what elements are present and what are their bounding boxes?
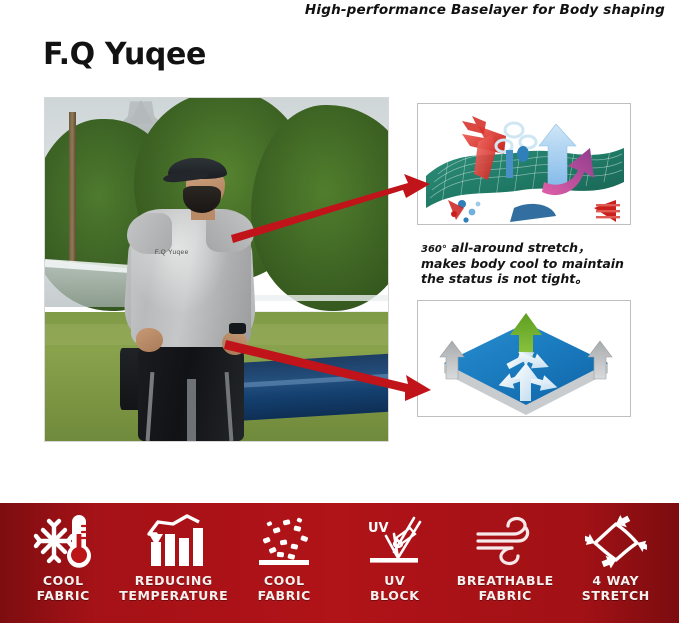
- uv-rays: [386, 518, 420, 558]
- uv-text: UV: [368, 521, 389, 536]
- breathable-diagram-panel: [417, 300, 631, 417]
- bars: [151, 528, 203, 566]
- wind-lines: [478, 534, 518, 548]
- photo-tights-gap: [187, 379, 195, 441]
- snowflake-thermometer-icon: [32, 510, 94, 572]
- descending-bar-chart-icon: [143, 510, 205, 572]
- product-photo: F.Q Yuqee: [44, 97, 389, 442]
- feature-item-cool-fabric-2[interactable]: COOL FABRIC: [229, 503, 340, 603]
- caption-degree-value: 360: [421, 244, 442, 255]
- caption-line1: all-around stretch，: [447, 240, 591, 255]
- feature-item-reducing-temperature[interactable]: REDUCING TEMPERATURE: [119, 503, 230, 603]
- stretch-diagram-panel: [417, 103, 631, 225]
- header-tagline: High-performance Baselayer for Body shap…: [305, 2, 665, 18]
- diamond-outline: [595, 524, 637, 560]
- feature-label: COOL FABRIC: [258, 574, 311, 603]
- chest-logo-text: F.Q Yuqee: [155, 249, 189, 256]
- caption-line2: makes body cool to maintain: [421, 256, 624, 271]
- feature-item-4-way-stretch[interactable]: 4 WAY STRETCH: [561, 503, 672, 603]
- feature-label: BREATHABLE FABRIC: [457, 574, 554, 603]
- uv-ray-deflect-icon: UV: [364, 510, 426, 572]
- water-droplet: [517, 146, 529, 162]
- brand-title: F.Q Yuqee: [43, 37, 206, 72]
- feature-label: REDUCING TEMPERATURE: [119, 574, 228, 603]
- uv-surface-bar: [370, 558, 418, 563]
- feature-label: COOL FABRIC: [37, 574, 90, 603]
- stretch-caption: 360° all-around stretch， makes body cool…: [421, 240, 671, 287]
- four-way-stretch-diamond-icon: [585, 510, 647, 572]
- feature-bar: COOL FABRIC REDUCING TEMPERATURE: [0, 503, 679, 623]
- photo-utility-pole: [69, 112, 76, 270]
- feature-item-breathable-fabric[interactable]: BREATHABLE FABRIC: [450, 503, 561, 603]
- feature-item-uv-block[interactable]: UV UV BLOCK: [340, 503, 451, 603]
- photo-hand-left: [136, 328, 163, 352]
- wind-breeze-icon: [474, 510, 536, 572]
- stretch-diagram-svg: [418, 104, 631, 225]
- droplet-stream: [506, 150, 513, 178]
- surface-bar: [259, 560, 309, 565]
- droplets-on-surface-icon: [253, 510, 315, 572]
- photo-shoulder-left: [127, 213, 172, 254]
- droplet-dashes: [263, 517, 309, 560]
- breathable-diagram-svg: [418, 301, 631, 417]
- feature-label: UV BLOCK: [370, 574, 420, 603]
- feature-label: 4 WAY STRETCH: [582, 574, 650, 603]
- feature-item-cool-fabric-1[interactable]: COOL FABRIC: [8, 503, 119, 603]
- caption-line3: the status is not tight。: [421, 271, 588, 286]
- snowflake-glyph: [36, 521, 72, 561]
- photo-wrist-watch: [229, 323, 246, 334]
- photo-hand-right: [222, 331, 248, 355]
